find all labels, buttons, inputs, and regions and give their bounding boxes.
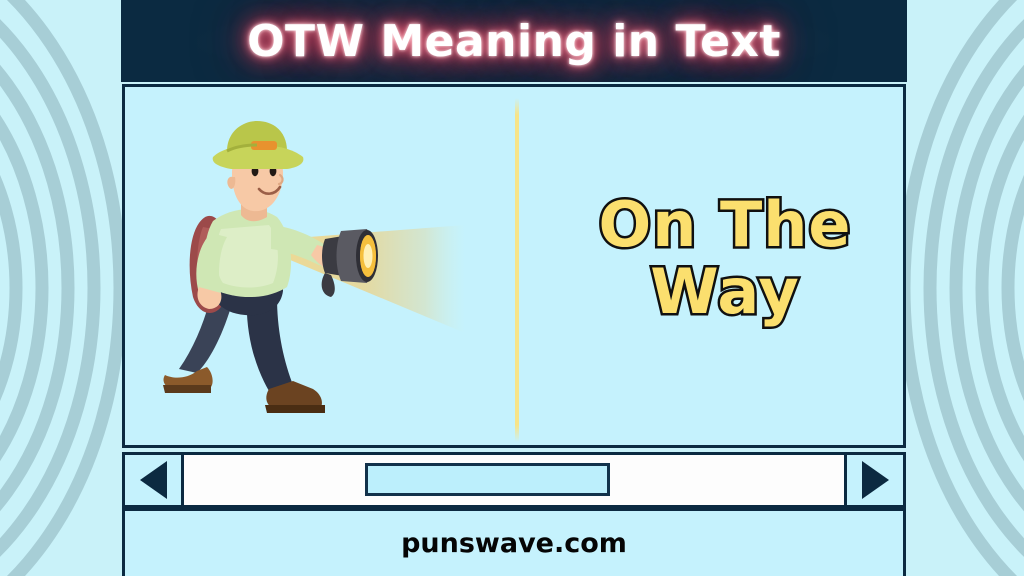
site-watermark: punswave.com (401, 528, 627, 559)
meaning-phrase: On The Way (545, 192, 905, 326)
poster-card: OTW Meaning in Text (121, 0, 907, 576)
poster-canvas: OTW Meaning in Text (0, 0, 1024, 576)
page-title: OTW Meaning in Text (247, 16, 781, 67)
triangle-left-icon (140, 461, 167, 499)
explorer-with-flashlight-illustration (135, 117, 515, 427)
triangle-right-icon (862, 461, 889, 499)
vertical-divider (515, 98, 519, 442)
horizontal-scrollbar[interactable] (122, 452, 906, 508)
content-panel: On The Way (122, 84, 906, 448)
scrollbar-thumb[interactable] (365, 463, 610, 496)
scroll-left-button[interactable] (125, 455, 184, 505)
bucket-hat (213, 121, 304, 169)
footer-bar: punswave.com (122, 508, 906, 576)
scroll-right-button[interactable] (844, 455, 903, 505)
scrollbar-track[interactable] (184, 455, 844, 505)
title-bar: OTW Meaning in Text (121, 0, 907, 82)
phrase-line-1: On The (545, 192, 905, 259)
phrase-line-2: Way (545, 259, 905, 326)
